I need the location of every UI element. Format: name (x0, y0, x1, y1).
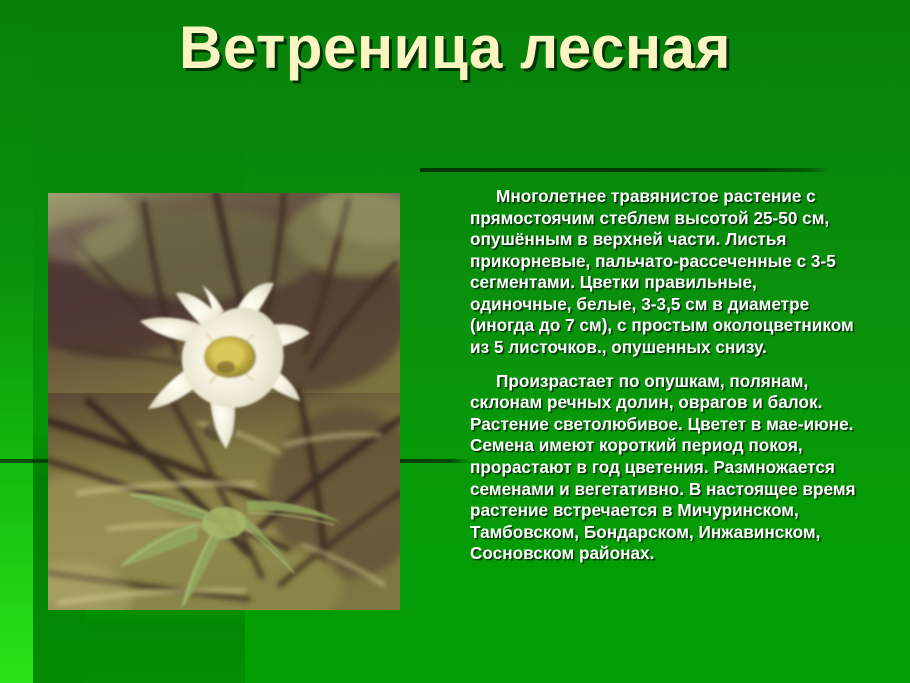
divider-line-top (420, 168, 828, 172)
divider-line-middle-left (0, 459, 52, 463)
plant-photograph (48, 193, 400, 610)
divider-line-middle-right (400, 459, 472, 463)
page-title: Ветреница лесная (0, 16, 910, 79)
presentation-slide: Ветреница лесная (0, 0, 910, 683)
photo-illustration (48, 193, 400, 610)
description-text-block: Многолетнее травянистое растение с прямо… (470, 186, 862, 565)
decorative-band-left (0, 0, 33, 683)
description-paragraph-1: Многолетнее травянистое растение с прямо… (470, 186, 862, 359)
description-paragraph-2: Произрастает по опушкам, полянам, склона… (470, 371, 862, 565)
